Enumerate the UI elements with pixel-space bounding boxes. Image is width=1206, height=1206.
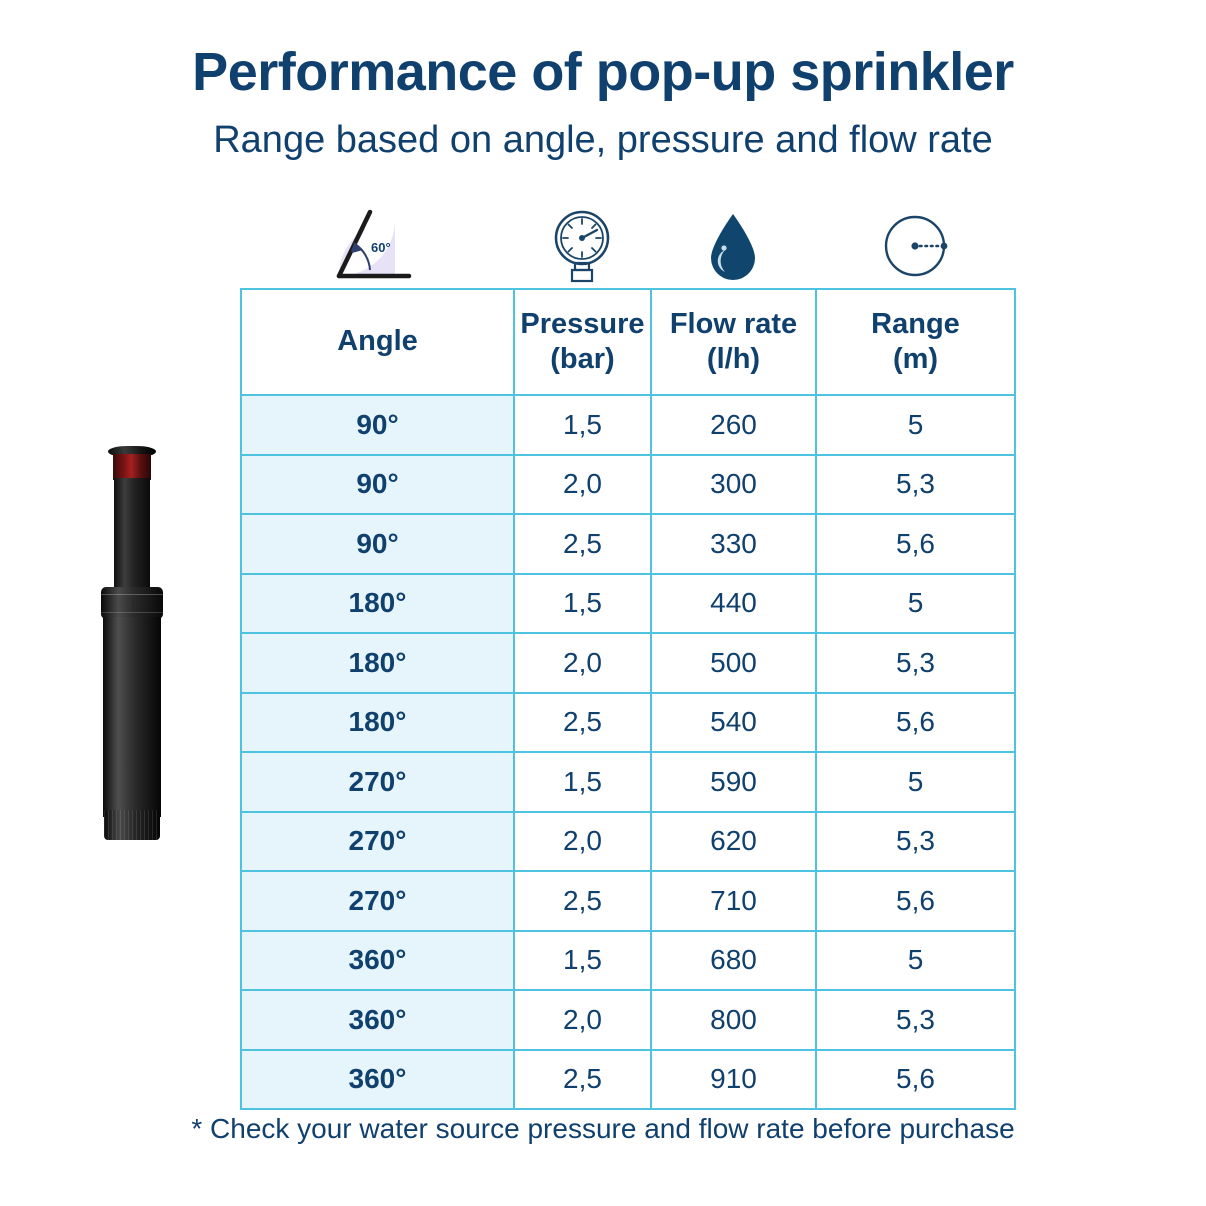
cell-range: 5,6: [816, 871, 1015, 931]
table-row: 90°2,03005,3: [241, 455, 1015, 515]
cell-range: 5: [816, 931, 1015, 991]
sprinkler-base: [104, 810, 160, 840]
cell-flow: 330: [651, 514, 816, 574]
cell-range: 5: [816, 395, 1015, 455]
column-header-flow: Flow rate (l/h): [651, 289, 816, 395]
table-row: 90°2,53305,6: [241, 514, 1015, 574]
cell-pressure: 1,5: [514, 752, 651, 812]
range-icon-cell: [815, 204, 1014, 288]
cell-angle: 90°: [241, 514, 514, 574]
cell-flow: 540: [651, 693, 816, 753]
column-header-range: Range (m): [816, 289, 1015, 395]
cell-pressure: 2,0: [514, 633, 651, 693]
angle-icon-cell: 60°: [240, 204, 513, 288]
cell-range: 5,3: [816, 633, 1015, 693]
column-header-range-line1: Range: [817, 307, 1014, 342]
cell-range: 5,6: [816, 693, 1015, 753]
angle-icon: 60°: [325, 206, 429, 286]
sprinkler-nozzle: [113, 454, 151, 480]
cell-angle: 180°: [241, 633, 514, 693]
table-row: 360°1,56805: [241, 931, 1015, 991]
cell-angle: 90°: [241, 455, 514, 515]
angle-icon-label: 60°: [371, 240, 391, 255]
table-row: 360°2,59105,6: [241, 1050, 1015, 1110]
cell-angle: 180°: [241, 574, 514, 634]
pressure-icon-cell: [513, 204, 650, 288]
table-row: 180°2,55405,6: [241, 693, 1015, 753]
cell-flow: 800: [651, 990, 816, 1050]
table-row: 270°2,57105,6: [241, 871, 1015, 931]
icon-row: 60°: [240, 204, 1014, 288]
product-image-sprinkler: [68, 432, 238, 862]
table-row: 270°2,06205,3: [241, 812, 1015, 872]
cell-range: 5,3: [816, 990, 1015, 1050]
table-row: 360°2,08005,3: [241, 990, 1015, 1050]
range-radius-icon: [877, 206, 953, 286]
pressure-gauge-icon: [546, 206, 618, 286]
cell-angle: 180°: [241, 693, 514, 753]
cell-angle: 360°: [241, 1050, 514, 1110]
cell-angle: 360°: [241, 931, 514, 991]
cell-range: 5,6: [816, 514, 1015, 574]
cell-range: 5,3: [816, 812, 1015, 872]
sprinkler-riser: [114, 478, 150, 592]
cell-pressure: 2,0: [514, 812, 651, 872]
cell-flow: 440: [651, 574, 816, 634]
cell-pressure: 2,5: [514, 871, 651, 931]
cell-flow: 620: [651, 812, 816, 872]
cell-angle: 270°: [241, 871, 514, 931]
flow-icon-cell: [650, 204, 815, 288]
cell-pressure: 1,5: [514, 574, 651, 634]
column-header-flow-line2: (l/h): [652, 342, 815, 377]
sprinkler-body: [103, 617, 161, 817]
table-row: 180°2,05005,3: [241, 633, 1015, 693]
cell-pressure: 2,0: [514, 455, 651, 515]
cell-pressure: 1,5: [514, 395, 651, 455]
cell-angle: 270°: [241, 812, 514, 872]
cell-pressure: 2,5: [514, 693, 651, 753]
performance-table: Angle Pressure (bar) Flow rate (l/h) Ran…: [240, 288, 1016, 1110]
cell-range: 5,3: [816, 455, 1015, 515]
cell-flow: 590: [651, 752, 816, 812]
cell-pressure: 2,0: [514, 990, 651, 1050]
water-droplet-icon: [703, 206, 763, 286]
cell-flow: 300: [651, 455, 816, 515]
cell-angle: 90°: [241, 395, 514, 455]
table-body: 90°1,5260590°2,03005,390°2,53305,6180°1,…: [241, 395, 1015, 1109]
column-header-range-line2: (m): [817, 342, 1014, 377]
page-title: Performance of pop-up sprinkler: [0, 44, 1206, 101]
column-header-angle: Angle: [241, 289, 514, 395]
cell-flow: 680: [651, 931, 816, 991]
cell-flow: 260: [651, 395, 816, 455]
table-row: 90°1,52605: [241, 395, 1015, 455]
page-subtitle: Range based on angle, pressure and flow …: [0, 120, 1206, 162]
column-header-angle-line1: Angle: [242, 324, 513, 359]
column-header-pressure-line2: (bar): [515, 342, 650, 377]
column-header-pressure: Pressure (bar): [514, 289, 651, 395]
cell-flow: 910: [651, 1050, 816, 1110]
cell-flow: 500: [651, 633, 816, 693]
table-row: 180°1,54405: [241, 574, 1015, 634]
cell-angle: 270°: [241, 752, 514, 812]
cell-flow: 710: [651, 871, 816, 931]
cell-angle: 360°: [241, 990, 514, 1050]
cell-range: 5: [816, 574, 1015, 634]
cell-pressure: 2,5: [514, 1050, 651, 1110]
footnote: * Check your water source pressure and f…: [0, 1113, 1206, 1145]
column-header-flow-line1: Flow rate: [652, 307, 815, 342]
cell-pressure: 2,5: [514, 514, 651, 574]
cell-pressure: 1,5: [514, 931, 651, 991]
sprinkler-collar: [101, 587, 163, 619]
column-header-pressure-line1: Pressure: [515, 307, 650, 342]
cell-range: 5: [816, 752, 1015, 812]
table-row: 270°1,55905: [241, 752, 1015, 812]
cell-range: 5,6: [816, 1050, 1015, 1110]
table-header-row: Angle Pressure (bar) Flow rate (l/h) Ran…: [241, 289, 1015, 395]
